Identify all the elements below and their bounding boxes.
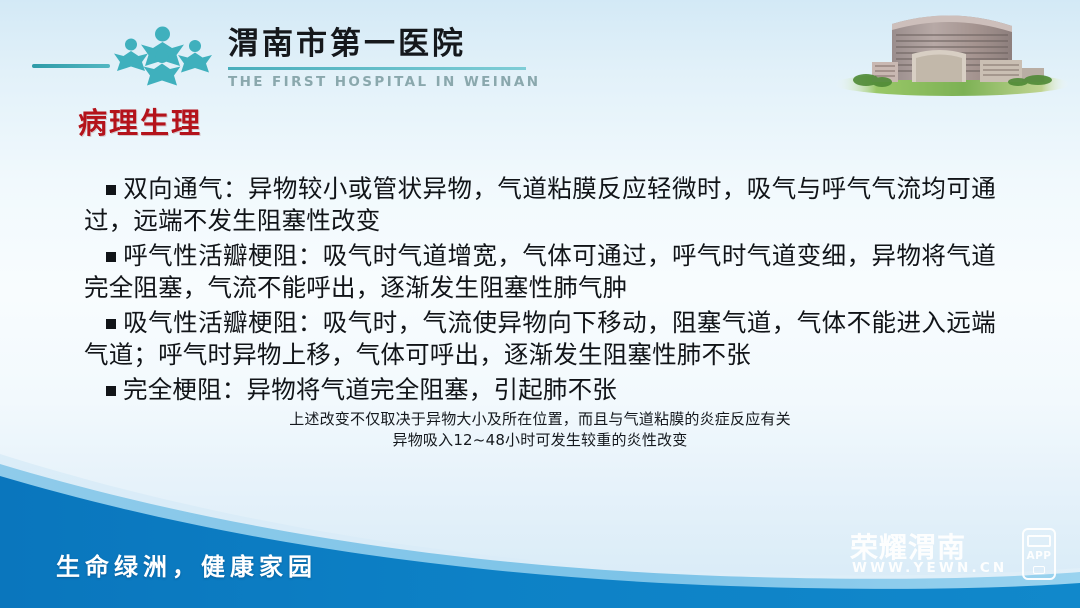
hospital-building-photo: [830, 2, 1074, 98]
mobile-phone-icon: APP: [1022, 528, 1056, 580]
bullet-item-3: 吸气性活瓣梗阻：吸气时，气流使异物向下移动，阻塞气道，气体不能进入远端气道；呼气…: [84, 307, 996, 371]
logo-underline: [228, 67, 526, 70]
bullet-text: 呼气性活瓣梗阻：吸气时气道增宽，气体可通过，呼气时气道变细，异物将气道完全阻塞，…: [84, 241, 996, 302]
phone-home-shape: [1033, 566, 1045, 574]
four-people-star-icon: [104, 24, 222, 86]
hospital-logo-text: 渭南市第一医院 THE FIRST HOSPITAL IN WEINAN: [228, 22, 528, 94]
bullet-text: 完全梗阻：异物将气道完全阻塞，引起肺不张: [123, 375, 617, 404]
slide-header: 渭南市第一医院 THE FIRST HOSPITAL IN WEINAN: [0, 0, 1080, 100]
bullet-square-icon: [106, 185, 116, 195]
note-line-1: 上述改变不仅取决于异物大小及所在位置，而且与气道粘膜的炎症反应有关: [84, 409, 996, 430]
bullet-square-icon: [106, 252, 116, 262]
slide-footer: 生命绿洲，健康家园 荣耀渭南 WWW.YEWN.CN APP: [0, 448, 1080, 608]
presentation-slide: 渭南市第一医院 THE FIRST HOSPITAL IN WEINAN: [0, 0, 1080, 608]
bullet-item-4: 完全梗阻：异物将气道完全阻塞，引起肺不张: [84, 374, 996, 406]
phone-screen-shape: [1027, 535, 1051, 547]
bullet-square-icon: [106, 386, 116, 396]
bullet-item-1: 双向通气：异物较小或管状异物，气道粘膜反应轻微时，吸气与呼气气流均可通过，远端不…: [84, 173, 996, 237]
bullet-square-icon: [106, 319, 116, 329]
watermark-badge: 荣耀渭南 WWW.YEWN.CN APP: [850, 526, 1062, 592]
slide-content: 双向通气：异物较小或管状异物，气道粘膜反应轻微时，吸气与呼气气流均可通过，远端不…: [84, 173, 996, 451]
bullet-text: 吸气性活瓣梗阻：吸气时，气流使异物向下移动，阻塞气道，气体不能进入远端气道；呼气…: [84, 308, 996, 369]
footer-slogan: 生命绿洲，健康家园: [56, 547, 317, 582]
watermark-url: WWW.YEWN.CN: [852, 560, 1007, 576]
header-accent-rule: [32, 64, 110, 68]
hospital-name-en: THE FIRST HOSPITAL IN WEINAN: [228, 74, 528, 90]
watermark-app-label: APP: [1024, 550, 1054, 562]
bullet-text: 双向通气：异物较小或管状异物，气道粘膜反应轻微时，吸气与呼气气流均可通过，远端不…: [84, 174, 996, 235]
bullet-item-2: 呼气性活瓣梗阻：吸气时气道增宽，气体可通过，呼气时气道变细，异物将气道完全阻塞，…: [84, 240, 996, 304]
page-title: 病理生理: [78, 104, 202, 142]
hospital-name-cn: 渭南市第一医院: [228, 22, 528, 66]
